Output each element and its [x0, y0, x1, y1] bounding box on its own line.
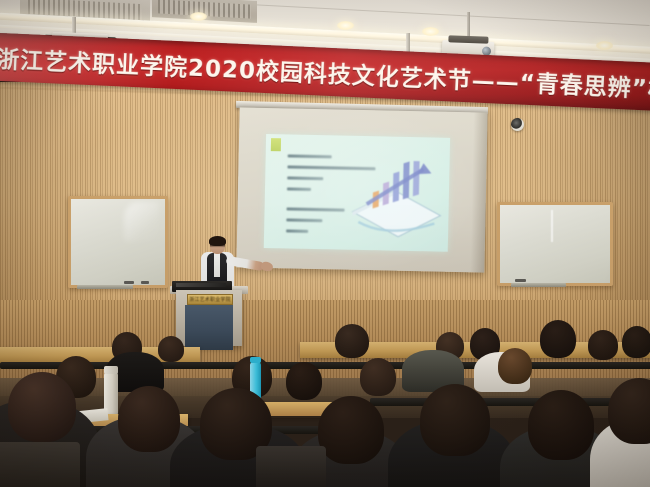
lectern-nameplate-text: 浙江艺术职业学院	[189, 296, 231, 303]
lectern-front-panel	[185, 305, 233, 350]
slide-text-line	[286, 218, 322, 222]
bottle-cap	[104, 366, 118, 374]
slide-text-line	[288, 154, 332, 158]
downlight-icon	[422, 27, 439, 36]
audience-head	[158, 336, 184, 362]
whiteboard-marker	[124, 281, 134, 284]
downlight-icon	[337, 21, 354, 30]
marker-tray	[77, 285, 133, 289]
desk-edge	[0, 362, 650, 369]
whiteboard-marker	[515, 279, 526, 282]
whiteboard-eraser	[141, 281, 149, 284]
audience-head	[286, 362, 322, 400]
audience-head	[622, 326, 650, 358]
presenter-hair	[209, 236, 226, 246]
audience-head	[528, 390, 594, 460]
seat-back	[0, 442, 80, 487]
slide-accent-tab	[271, 138, 281, 151]
wall-mounted-camera-icon	[511, 118, 524, 131]
audience-head	[8, 372, 76, 442]
whiteboard-left	[68, 196, 168, 288]
audience-head	[588, 330, 618, 360]
marker-tray	[511, 283, 566, 287]
slide-text-line	[287, 207, 345, 211]
downlight-icon	[596, 41, 613, 50]
slide-text-line	[287, 176, 323, 180]
slide-text-line	[286, 229, 308, 232]
whiteboard-glare	[551, 210, 553, 243]
lectern-nameplate: 浙江艺术职业学院	[187, 294, 233, 305]
slide-text-line	[287, 187, 311, 191]
audience-head	[318, 396, 384, 464]
presentation-slide	[264, 134, 450, 252]
lecture-hall-photo: 浙江艺术职业学院2020校园科技文化艺术节——“青春思辨”校园辩论赛复赛 浙江艺…	[0, 0, 650, 487]
slide-bar-chart-graphic	[348, 160, 444, 244]
audience-head	[360, 358, 396, 396]
seat-back	[256, 446, 326, 487]
audience-head	[420, 384, 490, 456]
audience-head	[118, 386, 180, 452]
projection-screen	[236, 107, 487, 272]
audience-head	[498, 348, 532, 384]
audience-head	[540, 320, 576, 358]
audience-head	[335, 324, 369, 358]
whiteboard-right	[497, 202, 613, 286]
bottle-cap	[250, 357, 261, 363]
whiteboard-glare	[124, 202, 160, 242]
downlight-icon	[190, 12, 207, 21]
